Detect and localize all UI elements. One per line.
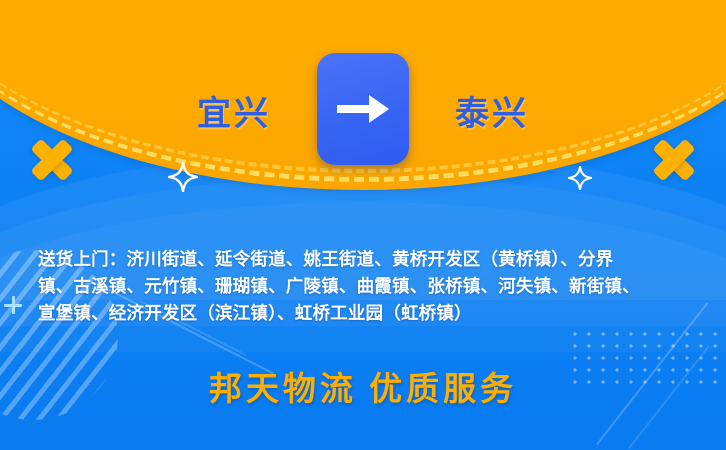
delivery-area-text: 送货上门：济川街道、延令街道、姚王街道、黄桥开发区（黄桥镇）、分界 镇、古溪镇、…: [38, 246, 704, 327]
four-point-star-icon-right: [568, 166, 592, 190]
route-headline-row: 宜兴 泰兴: [0, 78, 726, 152]
plus-mark-icon: [4, 296, 22, 314]
destination-city-label: 泰兴: [455, 98, 529, 132]
delivery-area-line-1: 送货上门：济川街道、延令街道、姚王街道、黄桥开发区（黄桥镇）、分界: [38, 246, 704, 273]
company-slogan: 邦天物流 优质服务: [0, 362, 726, 410]
logistics-route-banner: 宜兴 泰兴 送货上门：济川街道、延令街道、姚王街道、黄桥开发区（黄桥镇）、分界 …: [0, 0, 726, 450]
delivery-area-line-2: 镇、古溪镇、元竹镇、珊瑚镇、广陵镇、曲霞镇、张桥镇、河失镇、新街镇、: [38, 273, 704, 300]
origin-city-label: 宜兴: [197, 98, 271, 132]
arrow-right-icon: [335, 89, 391, 129]
delivery-area-line-3: 宣堡镇、经济开发区（滨江镇）、虹桥工业园（虹桥镇）: [38, 300, 704, 327]
route-arrow-button[interactable]: [317, 53, 409, 165]
